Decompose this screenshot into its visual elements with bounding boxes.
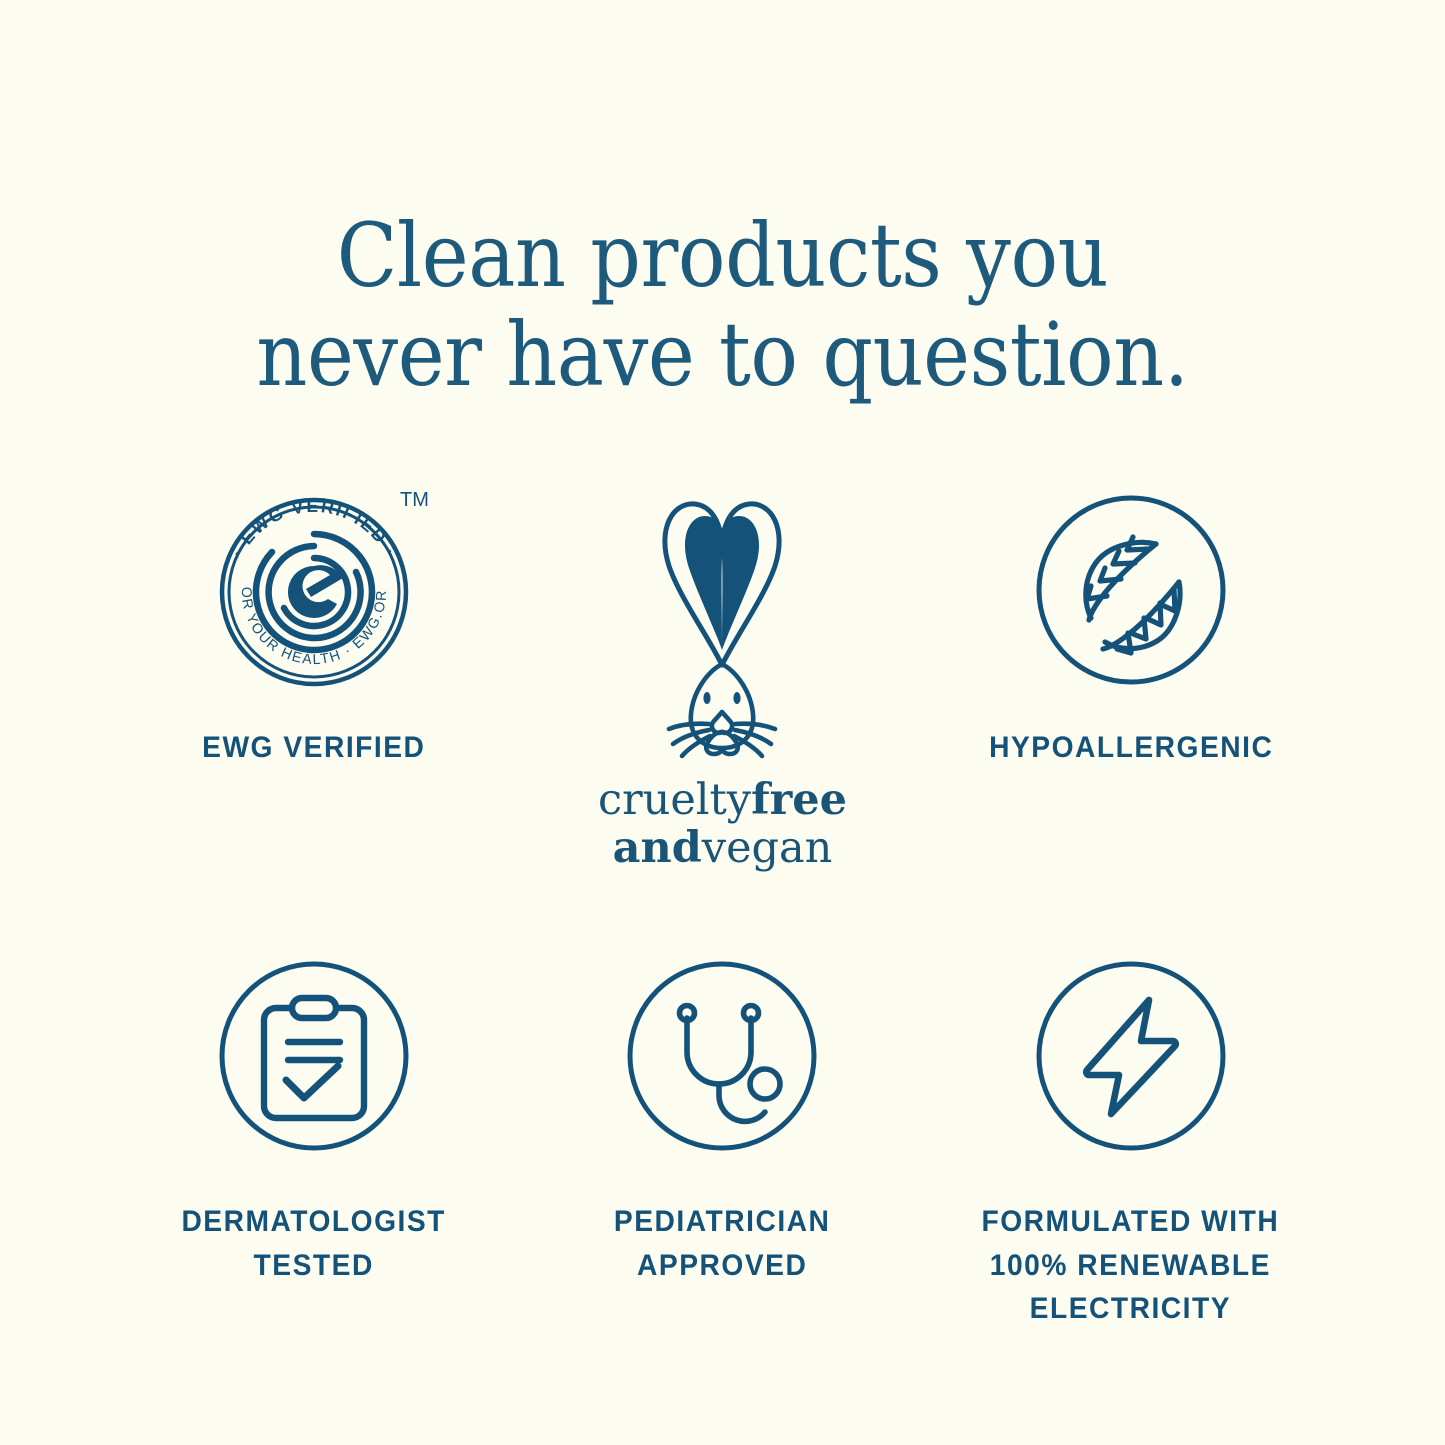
page-title-line-2: never have to question. — [72, 306, 1373, 405]
badge-label: PEDIATRICIAN APPROVED — [614, 1200, 831, 1287]
badge-label: HYPOALLERGENIC — [989, 726, 1273, 770]
leaping-bunny-icon — [597, 480, 847, 780]
page-title-line-1: Clean products you — [72, 207, 1373, 306]
badge-label-line-1: FORMULATED WITH — [982, 1205, 1280, 1238]
badge-art — [1031, 480, 1231, 700]
wordmark-and: and — [613, 823, 702, 873]
wordmark-vegan: vegan — [702, 823, 833, 873]
badge-label-line-1: PEDIATRICIAN — [614, 1205, 831, 1238]
badge-art — [597, 480, 847, 780]
badge-art — [622, 950, 822, 1162]
svg-text:· EWG VERIFIED ·: · EWG VERIFIED · — [227, 496, 401, 561]
wordmark-cruelty: cruelty — [598, 775, 751, 825]
badge-art: · EWG VERIFIED · FOR YOUR HEALTH · EWG.O… — [204, 480, 424, 700]
stethoscope-icon — [622, 956, 822, 1156]
badge-label-line-3: ELECTRICITY — [1030, 1292, 1231, 1325]
badge-ewg-verified: · EWG VERIFIED · FOR YOUR HEALTH · EWG.O… — [110, 480, 518, 872]
badge-label-line-2: APPROVED — [637, 1249, 807, 1282]
clipboard-check-icon — [214, 956, 414, 1156]
badge-renewable-electricity: FORMULATED WITH 100% RENEWABLE ELECTRICI… — [927, 950, 1335, 1331]
two-feathers-icon — [1031, 490, 1231, 690]
badge-label-line-1: DERMATOLOGIST — [182, 1205, 446, 1238]
cruelty-free-wordmark: crueltyfree andvegan — [598, 776, 847, 872]
badge-label: DERMATOLOGIST TESTED — [182, 1200, 446, 1287]
ewg-verified-seal-icon: · EWG VERIFIED · FOR YOUR HEALTH · EWG.O… — [204, 480, 424, 700]
badge-label: EWG VERIFIED — [203, 726, 426, 770]
wordmark-free: free — [751, 775, 847, 825]
trademark-mark: TM — [400, 489, 429, 511]
badge-art — [1031, 950, 1231, 1162]
page-title: Clean products you never have to questio… — [72, 207, 1373, 404]
badge-hypoallergenic: HYPOALLERGENIC — [927, 480, 1335, 872]
badge-grid: · EWG VERIFIED · FOR YOUR HEALTH · EWG.O… — [110, 480, 1335, 1331]
badge-pediatrician-approved: PEDIATRICIAN APPROVED — [518, 950, 926, 1331]
badge-art — [214, 950, 414, 1162]
badge-label: FORMULATED WITH 100% RENEWABLE ELECTRICI… — [982, 1200, 1280, 1331]
lightning-bolt-icon — [1031, 956, 1231, 1156]
badge-label-line-2: TESTED — [254, 1249, 374, 1282]
badge-label-line-2: 100% RENEWABLE — [990, 1249, 1271, 1282]
badge-cruelty-free-and-vegan: crueltyfree andvegan — [518, 480, 926, 872]
promo-page: Clean products you never have to questio… — [0, 0, 1445, 1445]
badge-dermatologist-tested: DERMATOLOGIST TESTED — [110, 950, 518, 1331]
